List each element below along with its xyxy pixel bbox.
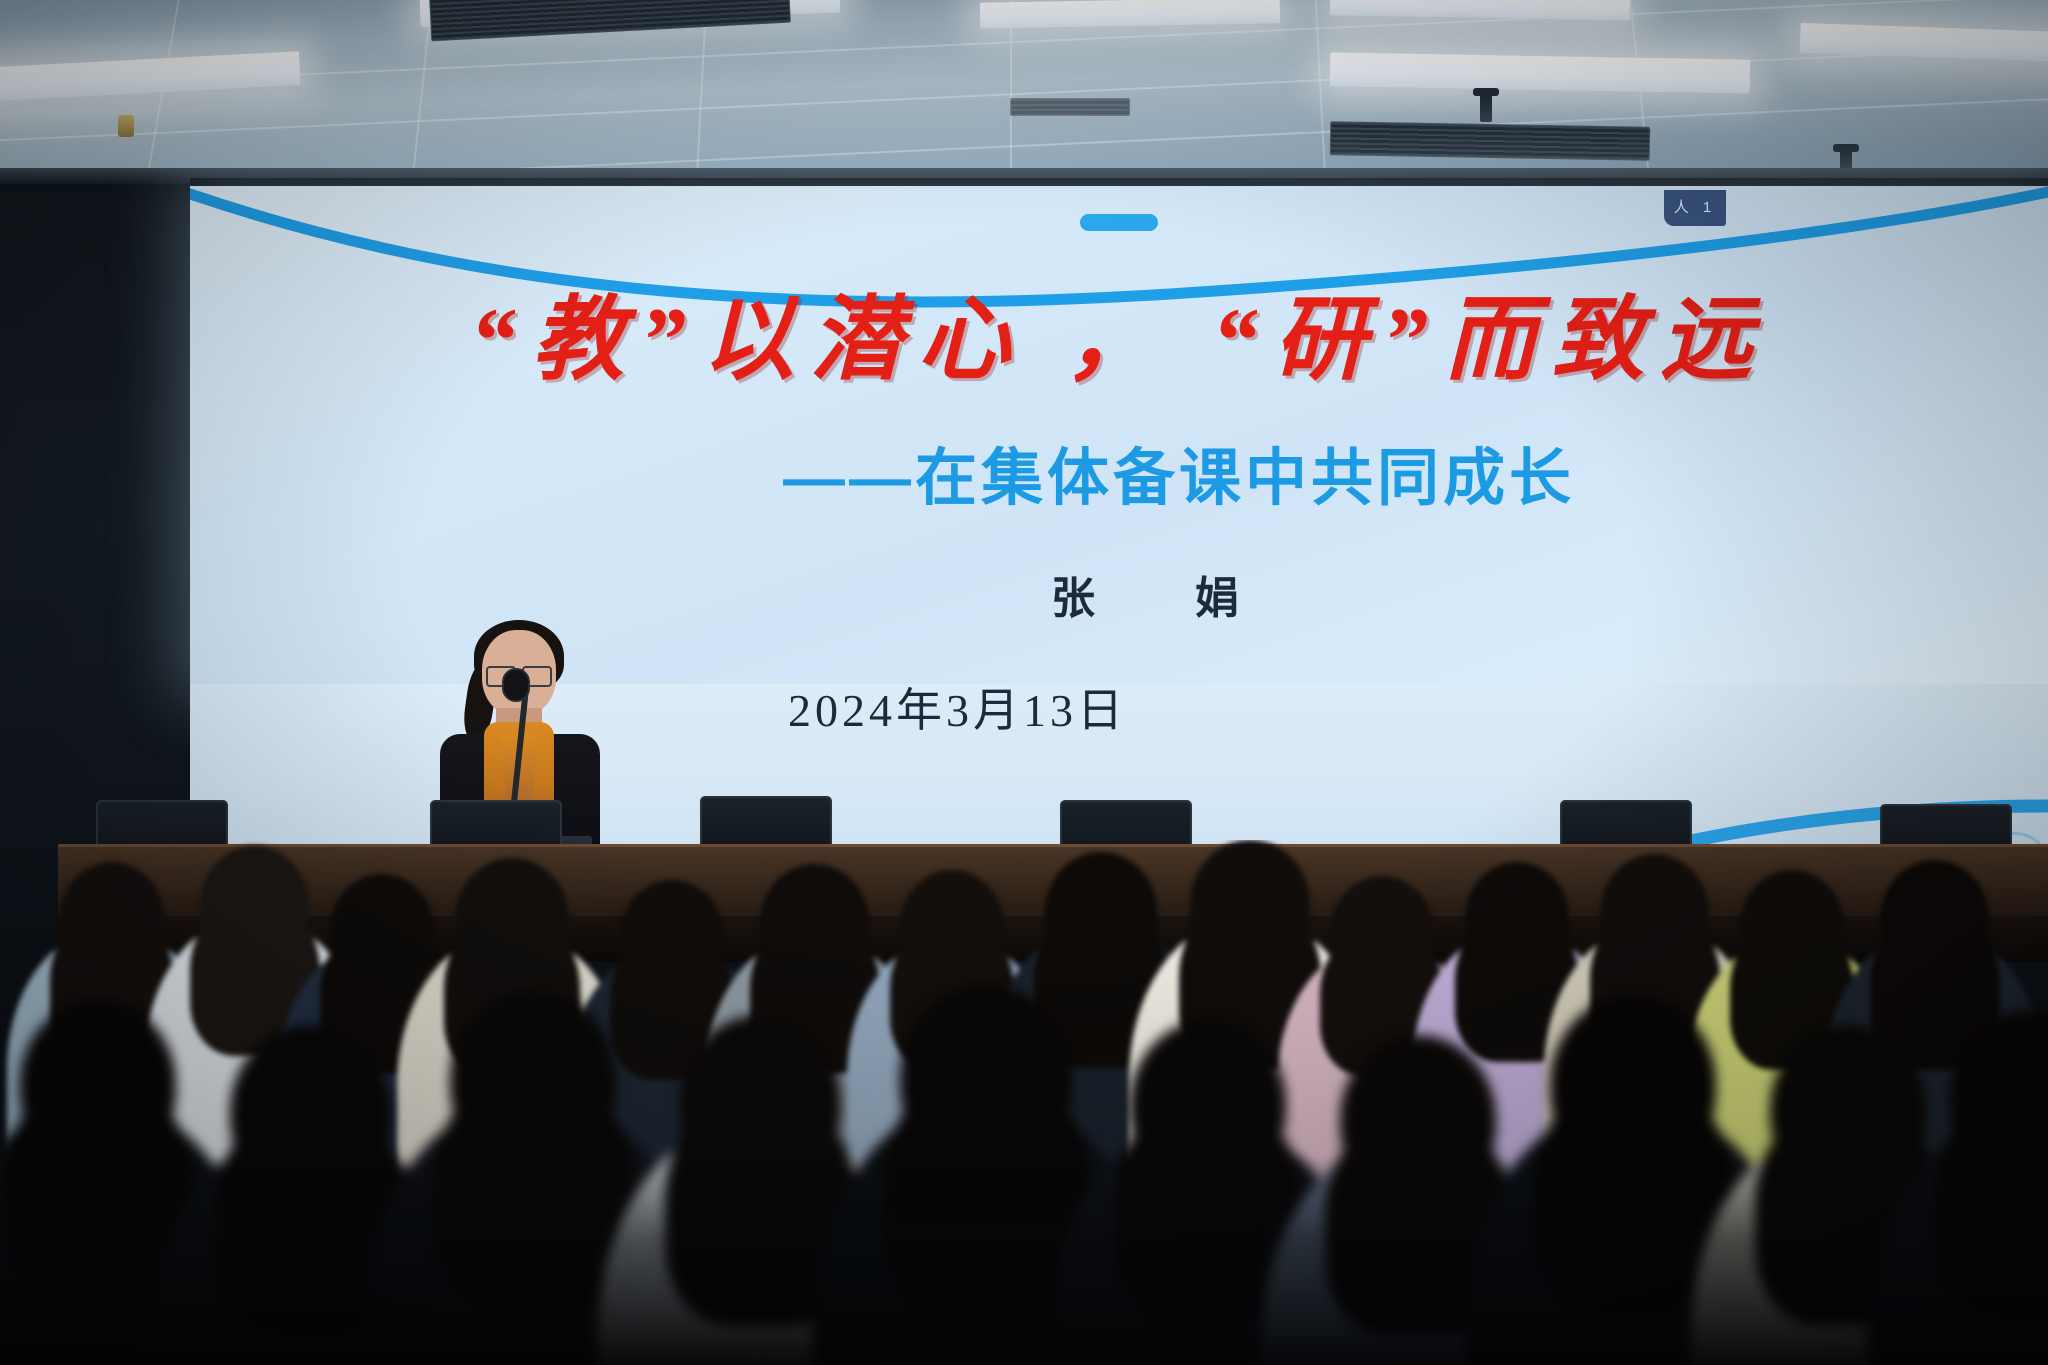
projection-screen: 人 1 “教”以潜心 ， “研”而致远 ——在集体备课中共同成长 张 娟 [190, 186, 2048, 684]
ceiling-light-panel [0, 51, 301, 103]
smoke-detector-icon [118, 115, 134, 137]
ceiling-speaker-icon [1480, 92, 1492, 122]
ceiling-air-vent [1330, 121, 1651, 161]
lecture-hall-photo: 人 1 “教”以潜心 ， “研”而致远 ——在集体备课中共同成长 张 娟 202… [0, 0, 2048, 1365]
slide-title: “教”以潜心 ， “研”而致远 [190, 294, 2048, 386]
slide-subtitle: ——在集体备课中共同成长 [190, 448, 2048, 510]
ceiling-air-vent [1010, 98, 1130, 116]
ceiling-air-vent [429, 0, 791, 41]
screen-corner-badge: 人 1 [1664, 190, 1726, 226]
ceiling-grid-line [1313, 0, 1330, 172]
slide-date: 2024年3月13日 [788, 684, 1127, 740]
foreground-shadow [0, 1155, 2048, 1365]
ceiling-light-panel [980, 0, 1280, 29]
microphone-icon [502, 668, 530, 702]
ceiling-light-panel [1330, 52, 1751, 93]
ceiling [0, 0, 2048, 172]
slide-presenter-name: 张 娟 [190, 562, 2048, 626]
ceiling-light-panel [1330, 0, 1630, 21]
blue-pill-decoration [1080, 214, 1158, 231]
